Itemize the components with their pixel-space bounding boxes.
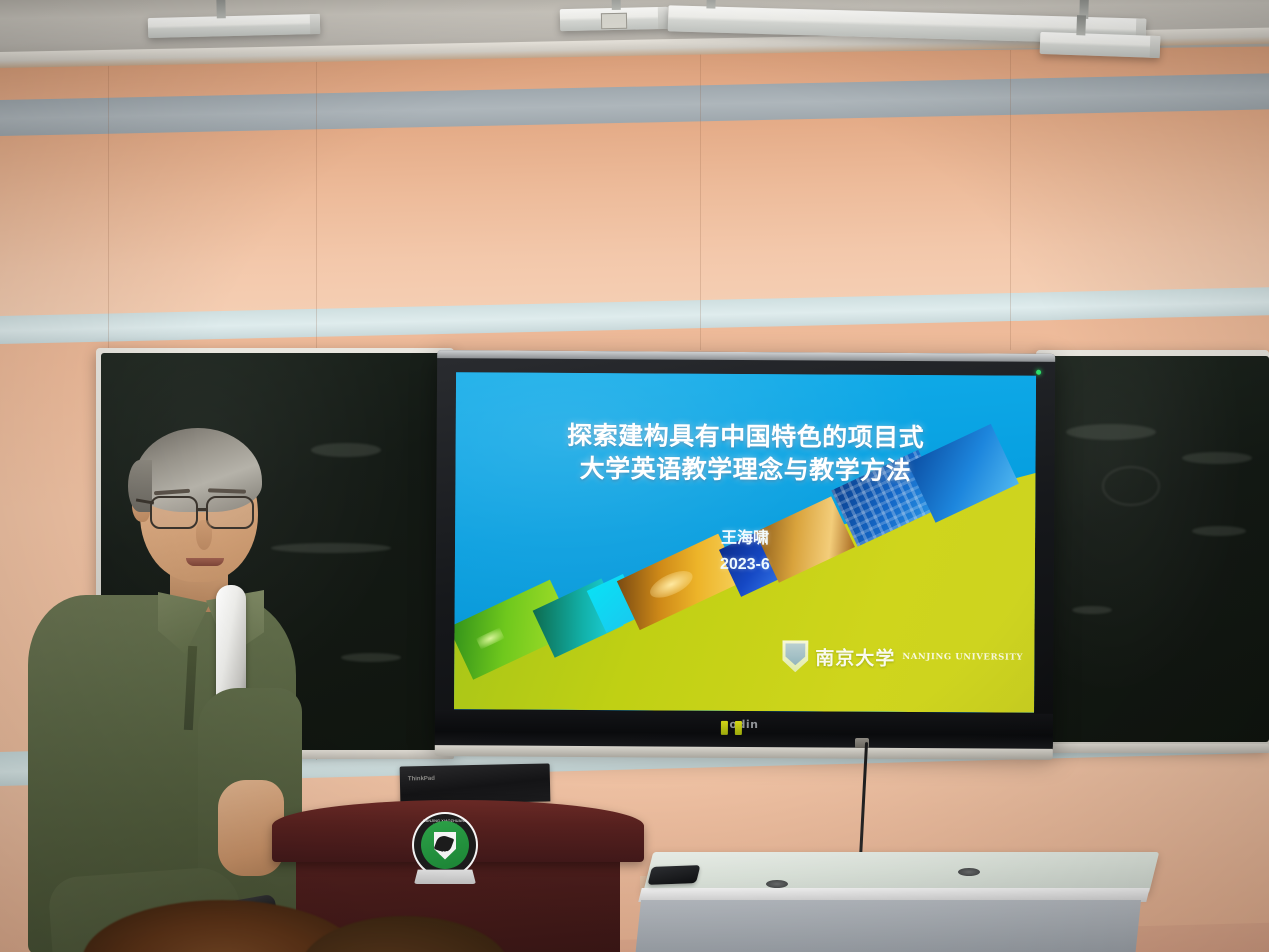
chalk-mark xyxy=(1182,452,1252,464)
cable-grommet xyxy=(958,868,980,876)
glasses-bridge xyxy=(198,508,208,511)
light-hanger xyxy=(611,0,620,10)
chalk-mark xyxy=(311,443,381,457)
chalk-mark xyxy=(1066,424,1156,440)
side-table xyxy=(648,852,1154,952)
glasses-icon xyxy=(150,496,198,529)
presentation-screen[interactable]: 探索建构具有中国特色的项目式 大学英语教学理念与教学方法 王海啸 2023-6 … xyxy=(454,372,1036,713)
table-front-panel xyxy=(635,900,1141,952)
nju-logo-chinese: 南京大学 xyxy=(815,643,895,670)
emblem-founded-year: 1927 xyxy=(421,851,469,857)
display-brand-label: odin xyxy=(729,718,758,731)
light-endcap xyxy=(1150,36,1161,58)
light-endcap xyxy=(658,7,668,29)
light-spec-label xyxy=(601,13,627,30)
wall-seam xyxy=(1010,50,1011,350)
ceiling-light-fixture xyxy=(148,14,320,38)
cable-grommet xyxy=(766,880,788,888)
slide-author: 王海啸 xyxy=(455,522,1035,550)
presenter-mouth xyxy=(186,558,224,566)
nanjing-university-logo: 南京大学 NANJING UNIVERSITY xyxy=(782,640,1023,673)
display-bottom-bezel: odin xyxy=(435,710,1053,750)
wall-seam xyxy=(700,50,701,350)
lcd-display[interactable]: 探索建构具有中国特色的项目式 大学英语教学理念与教学方法 王海啸 2023-6 … xyxy=(435,350,1055,750)
bezel-indicator xyxy=(721,721,728,735)
light-hanger xyxy=(1076,15,1086,35)
classroom-photo: 探索建构具有中国特色的项目式 大学英语教学理念与教学方法 王海啸 2023-6 … xyxy=(0,0,1269,952)
light-hanger xyxy=(216,0,225,18)
nju-logo-english: NANJING UNIVERSITY xyxy=(902,652,1023,663)
light-hanger xyxy=(707,0,717,9)
ceiling-light-fixture xyxy=(1040,32,1161,58)
slide-title: 探索建构具有中国特色的项目式 大学英语教学理念与教学方法 xyxy=(455,418,1035,488)
chalk-mark xyxy=(341,653,401,662)
university-emblem: NANJING XIAOZHUANG UNIVERSITY 1927 xyxy=(412,812,478,878)
presenter-nose xyxy=(196,520,212,550)
light-endcap xyxy=(310,14,320,34)
emblem-inner-disc: 1927 xyxy=(421,821,469,869)
slide-title-line-2: 大学英语教学理念与教学方法 xyxy=(455,451,1035,488)
ceiling-light-fixture xyxy=(560,7,668,31)
power-led-indicator xyxy=(1036,370,1041,375)
chalk-mark xyxy=(1072,606,1112,614)
slide-title-line-1: 探索建构具有中国特色的项目式 xyxy=(456,418,1036,455)
laptop-brand-label: ThinkPad xyxy=(408,776,435,783)
slide-date: 2023-6 xyxy=(455,554,1035,576)
chalk-mark xyxy=(1102,466,1160,506)
bezel-indicator xyxy=(735,721,742,735)
smartphone[interactable] xyxy=(648,865,701,885)
nju-shield-icon xyxy=(782,640,808,672)
chalk-mark xyxy=(1192,526,1246,536)
laptop[interactable]: ThinkPad xyxy=(400,763,551,804)
chalkboard-right xyxy=(1042,356,1269,742)
presenter xyxy=(10,420,310,952)
glasses-icon xyxy=(206,496,254,529)
chalk-tray xyxy=(1036,744,1269,753)
